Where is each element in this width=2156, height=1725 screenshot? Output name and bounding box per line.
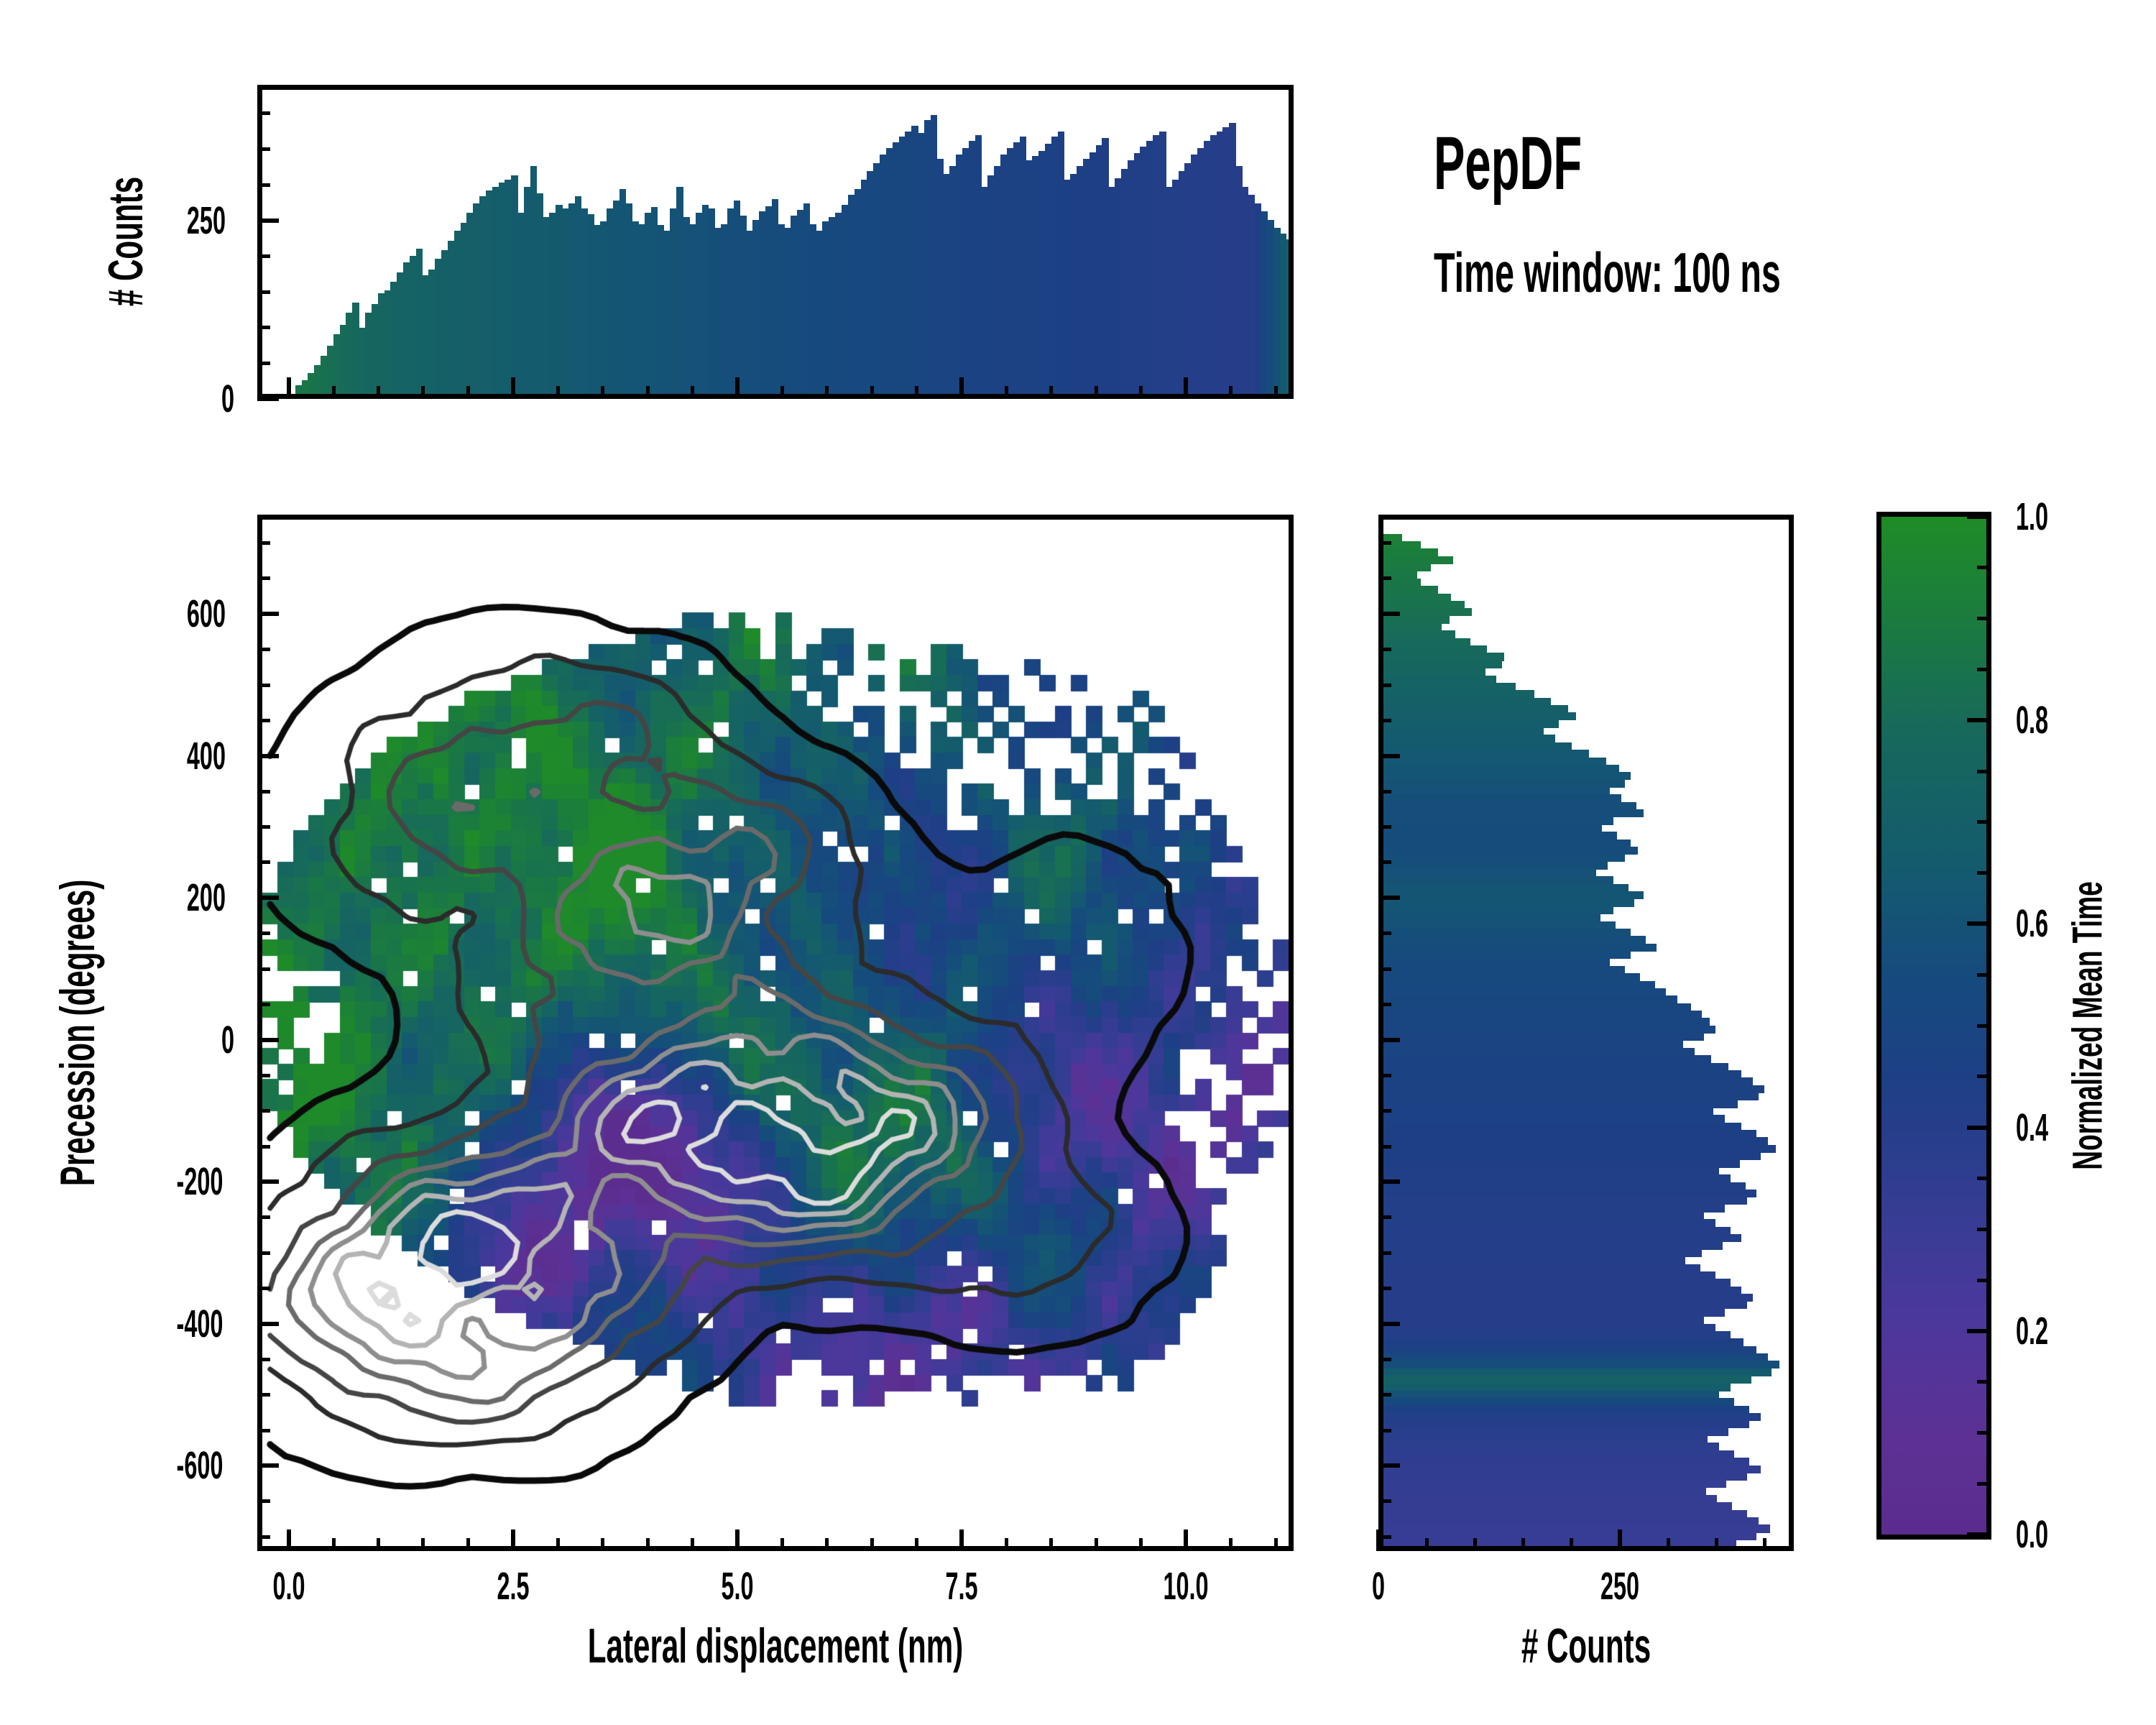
axis-tick-minor: [257, 1109, 270, 1113]
axis-tick-minor: [257, 290, 270, 294]
axis-tick-label: 200: [187, 878, 226, 917]
page-title: PepDF: [1434, 126, 1781, 201]
x-axis-label: Lateral displacement (nm): [588, 1621, 963, 1670]
axis-tick-minor: [691, 386, 694, 399]
main-joint-plot: [257, 515, 1294, 1551]
axis-tick-minor: [257, 541, 270, 545]
axis-tick-minor: [257, 254, 270, 258]
axis-tick-major: [287, 377, 291, 399]
axis-tick-minor: [257, 1499, 270, 1503]
axis-tick-label: 10.0: [1164, 1567, 1209, 1606]
axis-tick-major: [1184, 377, 1188, 399]
axis-tick-major: [959, 377, 964, 399]
colorbar-tick-major: [1967, 1126, 1991, 1130]
axis-tick-minor: [1139, 386, 1143, 399]
axis-tick-minor: [257, 147, 270, 151]
axis-tick-minor: [257, 1287, 270, 1290]
colorbar-gradient: [1881, 517, 1986, 1535]
axis-tick-minor: [1378, 1251, 1391, 1255]
axis-tick-minor: [915, 386, 918, 399]
right-marginal-histogram: [1378, 515, 1794, 1551]
axis-tick-minor: [421, 1538, 425, 1551]
axis-tick-major: [257, 754, 279, 758]
top-marginal-histogram: [257, 85, 1294, 399]
axis-tick-major: [257, 896, 279, 900]
axis-tick-minor: [1139, 1538, 1143, 1551]
axis-tick-minor: [556, 1538, 560, 1551]
axis-tick-minor: [466, 386, 470, 399]
axis-tick-label: -600: [177, 1446, 224, 1485]
axis-tick-minor: [257, 1535, 270, 1539]
axis-tick-major: [1618, 1529, 1622, 1551]
axis-tick-major: [959, 1529, 964, 1551]
axis-tick-minor: [332, 1538, 336, 1551]
axis-tick-major: [257, 1463, 279, 1468]
axis-tick-minor: [257, 931, 270, 935]
axis-tick-minor: [1229, 1538, 1233, 1551]
axis-tick-label: 0: [1372, 1567, 1385, 1606]
axis-tick-minor: [1378, 1109, 1391, 1113]
colorbar-tick-label: 1.0: [2016, 497, 2048, 536]
histogram-bar: [1293, 244, 1294, 394]
axis-tick-minor: [915, 1538, 918, 1551]
histogram-bar: [1286, 239, 1294, 394]
axis-tick-major: [1378, 1322, 1400, 1326]
axis-tick-major: [735, 377, 740, 399]
colorbar-tick-label: 0.4: [2016, 1108, 2048, 1147]
axis-tick-minor: [1378, 1287, 1391, 1290]
axis-tick-minor: [257, 790, 270, 793]
axis-tick-minor: [1378, 1074, 1391, 1077]
axis-tick-minor: [257, 1145, 270, 1149]
axis-tick-minor: [1378, 860, 1391, 864]
axis-tick-minor: [1378, 1535, 1391, 1539]
axis-tick-minor: [257, 967, 270, 971]
axis-tick-minor: [257, 111, 270, 115]
colorbar-tick-minor: [1977, 617, 1991, 620]
axis-tick-minor: [1378, 1499, 1391, 1503]
colorbar-tick-minor: [1977, 973, 1991, 977]
axis-tick-minor: [377, 386, 380, 399]
colorbar-tick-minor: [1977, 1279, 1991, 1282]
axis-tick-label: 5.0: [721, 1567, 753, 1606]
axis-tick-minor: [1378, 684, 1391, 687]
axis-tick-major: [257, 1038, 279, 1042]
axis-tick-label: 0: [221, 379, 234, 418]
axis-tick-minor: [466, 1538, 470, 1551]
colorbar-tick-minor: [1977, 1431, 1991, 1435]
axis-tick-minor: [825, 1538, 829, 1551]
axis-tick-minor: [556, 386, 560, 399]
colorbar-tick-minor: [1977, 1075, 1991, 1078]
axis-tick-minor: [1378, 1358, 1391, 1361]
axis-tick-minor: [1095, 1538, 1098, 1551]
axis-tick-minor: [1095, 386, 1098, 399]
axis-tick-major: [1378, 1463, 1400, 1468]
axis-tick-label: 0.0: [272, 1567, 305, 1606]
colorbar-label: Normalized Mean Time: [2064, 881, 2112, 1170]
axis-tick-major: [511, 1529, 515, 1551]
axis-tick-minor: [257, 1251, 270, 1255]
right-histogram-bars: [1383, 520, 1789, 1546]
colorbar-tick-minor: [1977, 871, 1991, 875]
axis-tick-minor: [1521, 1538, 1525, 1551]
axis-tick-major: [1376, 1529, 1381, 1551]
page-subtitle: Time window: 100 ns: [1434, 244, 1781, 300]
colorbar-tick-minor: [1977, 566, 1991, 569]
axis-tick-major: [1378, 1038, 1400, 1042]
axis-tick-minor: [257, 1358, 270, 1361]
axis-tick-label: 250: [1600, 1567, 1639, 1606]
axis-tick-label: 7.5: [946, 1567, 978, 1606]
title-block: PepDF Time window: 100 ns: [1434, 126, 1994, 300]
axis-tick-major: [257, 612, 279, 616]
axis-tick-minor: [257, 1429, 270, 1432]
colorbar-tick-minor: [1977, 820, 1991, 824]
top-histogram-bars: [262, 90, 1289, 394]
colorbar-tick-major: [1967, 1329, 1991, 1333]
axis-tick-major: [287, 1529, 291, 1551]
axis-tick-label: -200: [177, 1162, 224, 1201]
axis-tick-minor: [1763, 1538, 1766, 1551]
axis-tick-minor: [257, 1215, 270, 1219]
axis-tick-major: [511, 377, 515, 399]
axis-tick-label: 600: [187, 594, 226, 633]
axis-tick-minor: [870, 1538, 874, 1551]
axis-tick-minor: [691, 1538, 694, 1551]
axis-tick-minor: [646, 1538, 650, 1551]
axis-tick-minor: [1274, 1538, 1278, 1551]
axis-tick-major: [735, 1529, 740, 1551]
axis-tick-major: [257, 1179, 279, 1184]
axis-tick-major: [1378, 1179, 1400, 1184]
colorbar: [1876, 512, 1991, 1540]
axis-tick-minor: [257, 183, 270, 187]
axis-tick-minor: [601, 386, 604, 399]
axis-tick-major: [257, 1322, 279, 1326]
axis-tick-minor: [1274, 386, 1278, 399]
histogram-bar: [1383, 1540, 1736, 1547]
axis-tick-minor: [257, 719, 270, 722]
axis-tick-label: 250: [187, 201, 226, 240]
colorbar-tick-minor: [1977, 1380, 1991, 1384]
axis-tick-minor: [421, 386, 425, 399]
axis-tick-minor: [1570, 1538, 1573, 1551]
axis-tick-minor: [780, 386, 784, 399]
colorbar-tick-label: 0.0: [2016, 1515, 2048, 1554]
axis-tick-minor: [257, 1393, 270, 1397]
axis-tick-minor: [1049, 1538, 1053, 1551]
axis-tick-minor: [1378, 648, 1391, 651]
axis-tick-minor: [257, 684, 270, 687]
axis-tick-minor: [257, 860, 270, 864]
axis-tick-minor: [1229, 386, 1233, 399]
axis-tick-minor: [780, 1538, 784, 1551]
axis-tick-label: 400: [187, 737, 226, 776]
colorbar-tick-minor: [1977, 1024, 1991, 1028]
figure-root: 0250 # Counts 0.02.55.07.510.06004002000…: [0, 0, 2156, 1725]
top-histogram-y-axis-label: # Counts: [101, 177, 150, 306]
y-axis-label: Precession (degrees): [53, 880, 102, 1186]
axis-tick-label: 0: [221, 1021, 234, 1059]
axis-tick-minor: [332, 386, 336, 399]
axis-tick-minor: [1378, 1145, 1391, 1149]
axis-tick-minor: [825, 386, 829, 399]
heatmap-canvas: [262, 520, 1289, 1546]
axis-tick-label: 2.5: [497, 1567, 529, 1606]
colorbar-tick-minor: [1977, 1177, 1991, 1180]
axis-tick-minor: [870, 386, 874, 399]
colorbar-tick-minor: [1977, 668, 1991, 671]
axis-tick-minor: [1378, 576, 1391, 580]
axis-tick-minor: [1715, 1538, 1718, 1551]
axis-tick-label: -400: [177, 1305, 224, 1343]
axis-tick-minor: [1378, 1393, 1391, 1397]
axis-tick-minor: [1378, 825, 1391, 829]
axis-tick-minor: [1473, 1538, 1477, 1551]
histogram-bar: [1383, 1547, 1715, 1551]
axis-tick-major: [1378, 754, 1400, 758]
axis-tick-minor: [1378, 1215, 1391, 1219]
axis-tick-minor: [1425, 1538, 1429, 1551]
colorbar-tick-major: [1967, 515, 1991, 519]
axis-tick-minor: [1378, 967, 1391, 971]
axis-tick-minor: [1378, 719, 1391, 722]
axis-tick-minor: [257, 648, 270, 651]
axis-tick-minor: [1378, 790, 1391, 793]
axis-tick-minor: [257, 825, 270, 829]
axis-tick-major: [1378, 612, 1400, 616]
axis-tick-minor: [1005, 1538, 1008, 1551]
axis-tick-minor: [257, 1074, 270, 1077]
axis-tick-major: [257, 397, 279, 401]
axis-tick-major: [1378, 896, 1400, 900]
axis-tick-minor: [1378, 1429, 1391, 1432]
axis-tick-minor: [1378, 541, 1391, 545]
axis-tick-minor: [1667, 1538, 1670, 1551]
axis-tick-minor: [1378, 1003, 1391, 1006]
colorbar-tick-minor: [1977, 1228, 1991, 1231]
axis-tick-minor: [1005, 386, 1008, 399]
colorbar-tick-label: 0.2: [2016, 1312, 2048, 1351]
axis-tick-minor: [1378, 931, 1391, 935]
axis-tick-minor: [257, 326, 270, 329]
axis-tick-minor: [601, 1538, 604, 1551]
axis-tick-minor: [257, 362, 270, 365]
right-histogram-x-axis-label: # Counts: [1521, 1621, 1651, 1670]
colorbar-tick-label: 0.6: [2016, 904, 2048, 943]
colorbar-tick-minor: [1977, 1482, 1991, 1486]
axis-tick-major: [1184, 1529, 1188, 1551]
axis-tick-minor: [257, 576, 270, 580]
axis-tick-major: [257, 218, 279, 223]
axis-tick-minor: [257, 1003, 270, 1006]
colorbar-tick-label: 0.8: [2016, 701, 2048, 740]
colorbar-tick-major: [1967, 718, 1991, 722]
colorbar-tick-major: [1967, 921, 1991, 926]
axis-tick-minor: [1049, 386, 1053, 399]
colorbar-tick-major: [1967, 1532, 1991, 1537]
axis-tick-minor: [377, 1538, 380, 1551]
axis-tick-minor: [646, 386, 650, 399]
colorbar-tick-minor: [1977, 770, 1991, 773]
